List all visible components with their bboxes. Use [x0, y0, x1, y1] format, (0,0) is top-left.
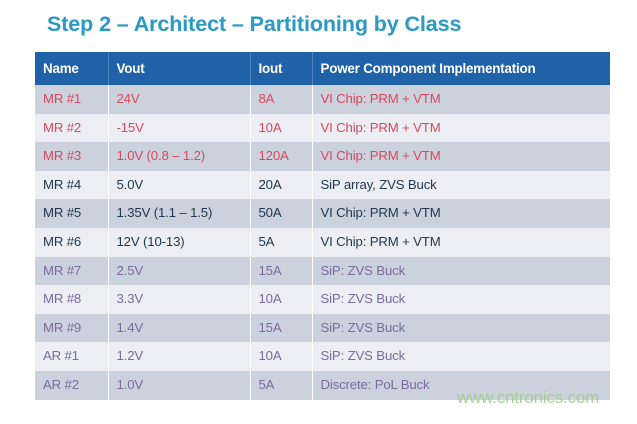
cell-iout: 15A — [250, 314, 312, 343]
cell-vout: -15V — [108, 114, 250, 143]
table-row: AR #21.0V5ADiscrete: PoL Buck — [35, 371, 610, 400]
column-header-impl: Power Component Implementation — [312, 52, 610, 85]
cell-name: AR #2 — [35, 371, 108, 400]
table-header-row: Name Vout Iout Power Component Implement… — [35, 52, 610, 85]
table-row: MR #51.35V (1.1 – 1.5)50AVI Chip: PRM + … — [35, 199, 610, 228]
table-row: MR #83.3V10ASiP: ZVS Buck — [35, 285, 610, 314]
cell-impl: Discrete: PoL Buck — [312, 371, 610, 400]
cell-impl: VI Chip: PRM + VTM — [312, 114, 610, 143]
cell-impl: SiP: ZVS Buck — [312, 314, 610, 343]
cell-vout: 1.2V — [108, 342, 250, 371]
column-header-vout: Vout — [108, 52, 250, 85]
cell-vout: 1.0V (0.8 – 1.2) — [108, 142, 250, 171]
cell-iout: 10A — [250, 114, 312, 143]
table-row: AR #11.2V10ASiP: ZVS Buck — [35, 342, 610, 371]
cell-iout: 50A — [250, 199, 312, 228]
cell-iout: 8A — [250, 85, 312, 114]
table-row: MR #31.0V (0.8 – 1.2)120AVI Chip: PRM + … — [35, 142, 610, 171]
cell-impl: VI Chip: PRM + VTM — [312, 199, 610, 228]
cell-iout: 10A — [250, 342, 312, 371]
table-body: MR #124V8AVI Chip: PRM + VTMMR #2-15V10A… — [35, 85, 610, 400]
cell-vout: 12V (10-13) — [108, 228, 250, 257]
cell-iout: 20A — [250, 171, 312, 200]
cell-impl: SiP: ZVS Buck — [312, 285, 610, 314]
cell-impl: VI Chip: PRM + VTM — [312, 228, 610, 257]
cell-iout: 120A — [250, 142, 312, 171]
cell-name: MR #6 — [35, 228, 108, 257]
table-row: MR #91.4V15ASiP: ZVS Buck — [35, 314, 610, 343]
page-title: Step 2 – Architect – Partitioning by Cla… — [47, 12, 461, 37]
cell-name: MR #1 — [35, 85, 108, 114]
cell-impl: SiP: ZVS Buck — [312, 257, 610, 286]
partitioning-table: Name Vout Iout Power Component Implement… — [35, 52, 610, 400]
cell-impl: SiP array, ZVS Buck — [312, 171, 610, 200]
cell-vout: 2.5V — [108, 257, 250, 286]
cell-name: MR #5 — [35, 199, 108, 228]
cell-impl: VI Chip: PRM + VTM — [312, 142, 610, 171]
cell-name: MR #4 — [35, 171, 108, 200]
cell-vout: 1.35V (1.1 – 1.5) — [108, 199, 250, 228]
cell-vout: 5.0V — [108, 171, 250, 200]
cell-vout: 3.3V — [108, 285, 250, 314]
table-row: MR #45.0V20ASiP array, ZVS Buck — [35, 171, 610, 200]
cell-vout: 24V — [108, 85, 250, 114]
cell-impl: SiP: ZVS Buck — [312, 342, 610, 371]
cell-iout: 5A — [250, 371, 312, 400]
column-header-name: Name — [35, 52, 108, 85]
cell-vout: 1.4V — [108, 314, 250, 343]
cell-vout: 1.0V — [108, 371, 250, 400]
cell-name: AR #1 — [35, 342, 108, 371]
table-row: MR #612V (10-13)5AVI Chip: PRM + VTM — [35, 228, 610, 257]
cell-name: MR #8 — [35, 285, 108, 314]
cell-name: MR #3 — [35, 142, 108, 171]
cell-impl: VI Chip: PRM + VTM — [312, 85, 610, 114]
table-row: MR #124V8AVI Chip: PRM + VTM — [35, 85, 610, 114]
table-row: MR #72.5V15ASiP: ZVS Buck — [35, 257, 610, 286]
cell-name: MR #9 — [35, 314, 108, 343]
table-header: Name Vout Iout Power Component Implement… — [35, 52, 610, 85]
table-row: MR #2-15V10AVI Chip: PRM + VTM — [35, 114, 610, 143]
cell-iout: 15A — [250, 257, 312, 286]
column-header-iout: Iout — [250, 52, 312, 85]
cell-name: MR #2 — [35, 114, 108, 143]
cell-name: MR #7 — [35, 257, 108, 286]
cell-iout: 5A — [250, 228, 312, 257]
slide-canvas: Step 2 – Architect – Partitioning by Cla… — [0, 0, 637, 424]
cell-iout: 10A — [250, 285, 312, 314]
